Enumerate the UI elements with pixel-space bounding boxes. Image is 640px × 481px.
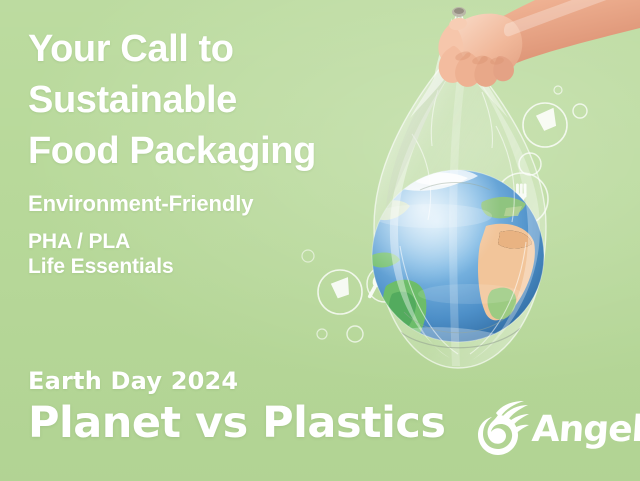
angel-swirl-icon bbox=[468, 399, 530, 459]
brand-logo[interactable]: Angel bbox=[468, 398, 632, 460]
subtitle-life-essentials: Life Essentials bbox=[28, 253, 174, 280]
campaign-tagline: Planet vs Plastics bbox=[28, 398, 445, 448]
artwork-hand-bag-globe bbox=[300, 0, 640, 394]
poster-canvas: Your Call to Sustainable Food Packaging … bbox=[0, 0, 640, 481]
subtitle-environment-friendly: Environment-Friendly bbox=[28, 190, 253, 218]
subtitle-materials: PHA / PLA bbox=[28, 228, 130, 255]
logo-wordmark: Angel bbox=[531, 409, 640, 450]
campaign-eyebrow: Earth Day 2024 bbox=[28, 367, 238, 395]
hand-holding-bag-icon bbox=[438, 0, 640, 87]
